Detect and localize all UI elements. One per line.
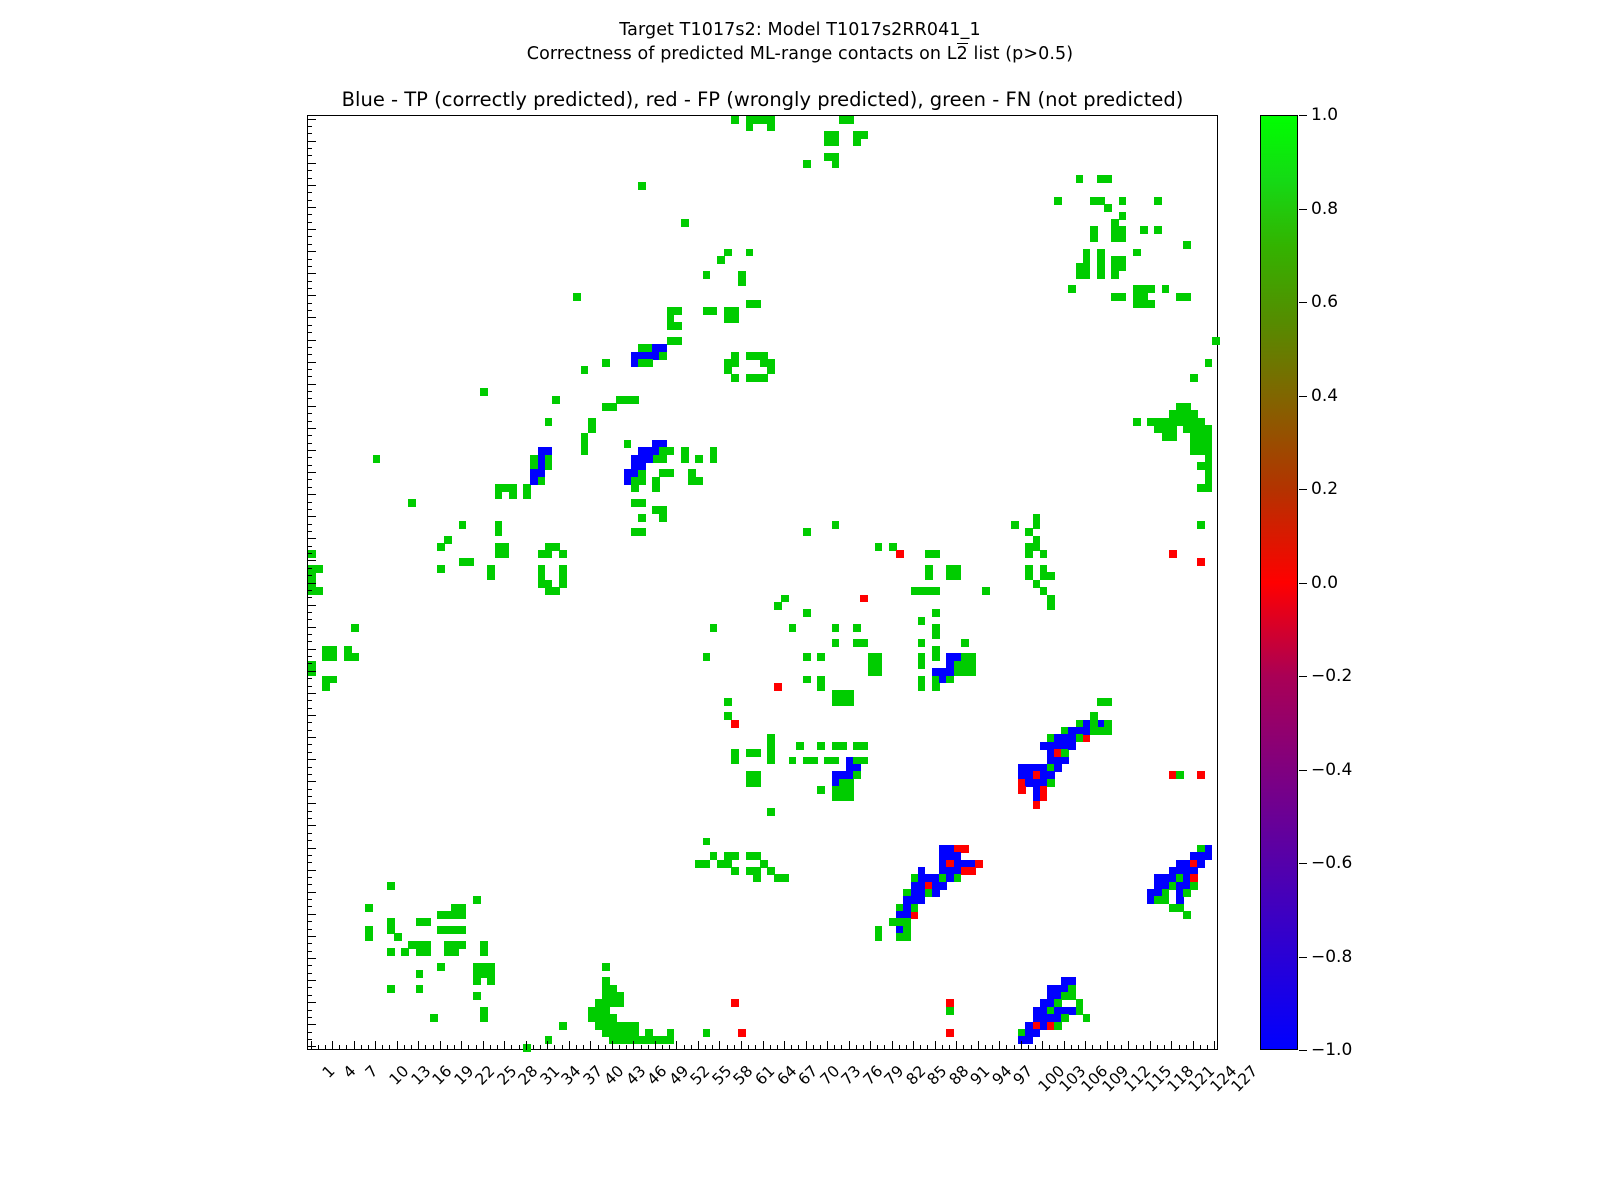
contact-cell bbox=[1040, 572, 1048, 580]
y-tick bbox=[307, 715, 316, 716]
contact-cell bbox=[588, 425, 596, 433]
y-tick bbox=[307, 354, 312, 355]
contact-cell bbox=[946, 1007, 954, 1015]
y-tick bbox=[307, 487, 312, 488]
contact-cell bbox=[559, 580, 567, 588]
contact-cell bbox=[667, 447, 675, 455]
x-tick bbox=[1171, 1041, 1172, 1050]
contact-cell bbox=[466, 558, 474, 566]
contact-cell bbox=[731, 374, 739, 382]
figure-suptitle: Target T1017s2: Model T1017s2RR041_1 Cor… bbox=[0, 18, 1600, 66]
x-tick bbox=[1179, 1045, 1180, 1050]
contact-cell bbox=[1061, 757, 1069, 765]
contact-cell bbox=[982, 587, 990, 595]
y-tick bbox=[307, 965, 312, 966]
y-tick bbox=[307, 494, 316, 495]
contact-cell bbox=[545, 418, 553, 426]
contact-cell bbox=[1197, 558, 1205, 566]
contact-cell bbox=[1197, 521, 1205, 529]
contact-cell bbox=[681, 455, 689, 463]
contact-cell bbox=[365, 933, 373, 941]
y-tick bbox=[307, 649, 316, 650]
y-tick bbox=[307, 317, 316, 318]
x-tick bbox=[511, 1045, 512, 1050]
x-tick bbox=[1214, 1041, 1215, 1050]
y-tick bbox=[307, 1032, 312, 1033]
contact-cell bbox=[416, 941, 424, 949]
x-tick bbox=[834, 1045, 835, 1050]
contact-cell bbox=[703, 1029, 711, 1037]
x-tick bbox=[519, 1045, 520, 1050]
x-tick bbox=[346, 1045, 347, 1050]
contact-cell bbox=[495, 528, 503, 536]
x-tick bbox=[1186, 1045, 1187, 1050]
contact-cell bbox=[659, 514, 667, 522]
x-tick bbox=[1200, 1045, 1201, 1050]
y-tick bbox=[307, 818, 312, 819]
colorbar-tick-label: 0.6 bbox=[1311, 292, 1338, 312]
y-tick bbox=[307, 126, 312, 127]
contact-cell bbox=[480, 388, 488, 396]
contact-cell bbox=[1133, 418, 1141, 426]
contact-cell bbox=[1169, 433, 1177, 441]
contact-cell bbox=[753, 874, 761, 882]
y-tick bbox=[307, 840, 312, 841]
suptitle-line-2-prefix: Correctness of predicted ML-range contac… bbox=[527, 44, 957, 64]
colorbar-tick bbox=[1299, 676, 1307, 677]
contact-cell bbox=[932, 653, 940, 661]
x-tick bbox=[540, 1045, 541, 1050]
contact-cell bbox=[731, 757, 739, 765]
x-tick bbox=[1100, 1045, 1101, 1050]
contact-cell bbox=[437, 565, 445, 573]
l2-exponent: 2 bbox=[957, 44, 968, 64]
y-tick bbox=[307, 597, 312, 598]
y-tick bbox=[307, 259, 312, 260]
contact-cell bbox=[1054, 197, 1062, 205]
contact-cell bbox=[932, 683, 940, 691]
y-tick bbox=[307, 605, 316, 606]
contact-cell bbox=[416, 970, 424, 978]
x-tick bbox=[554, 1045, 555, 1050]
contact-cell bbox=[559, 550, 567, 558]
x-tick bbox=[935, 1041, 936, 1050]
colorbar-tick-label: 0.0 bbox=[1311, 573, 1338, 593]
contact-cell bbox=[846, 779, 854, 787]
x-tick bbox=[1071, 1045, 1072, 1050]
y-tick bbox=[307, 627, 316, 628]
contact-cell bbox=[659, 455, 667, 463]
x-tick bbox=[468, 1045, 469, 1050]
y-tick bbox=[307, 384, 316, 385]
x-tick bbox=[734, 1045, 735, 1050]
contact-cell bbox=[1068, 285, 1076, 293]
x-tick bbox=[798, 1045, 799, 1050]
x-tick-label: 4 bbox=[340, 1062, 360, 1082]
contact-cell bbox=[1197, 860, 1205, 868]
x-tick bbox=[605, 1045, 606, 1050]
x-tick bbox=[354, 1041, 355, 1050]
contact-cell bbox=[652, 484, 660, 492]
contact-cell bbox=[1197, 484, 1205, 492]
contact-cell bbox=[1183, 293, 1191, 301]
y-tick bbox=[307, 1024, 316, 1025]
contact-cell bbox=[459, 926, 467, 934]
contact-cell bbox=[1154, 226, 1162, 234]
y-tick bbox=[307, 759, 316, 760]
contact-cell bbox=[1054, 764, 1062, 772]
contact-cell bbox=[918, 896, 926, 904]
contact-cell bbox=[1205, 359, 1213, 367]
y-tick bbox=[307, 848, 316, 849]
y-tick bbox=[307, 546, 312, 547]
x-tick bbox=[741, 1041, 742, 1050]
contact-cell bbox=[631, 396, 639, 404]
contact-cell bbox=[860, 757, 868, 765]
contact-cell bbox=[1083, 271, 1091, 279]
contact-cell bbox=[918, 617, 926, 625]
x-tick bbox=[612, 1041, 613, 1050]
contact-cell bbox=[545, 550, 553, 558]
y-tick bbox=[307, 951, 312, 952]
contact-cell bbox=[1183, 241, 1191, 249]
x-tick bbox=[1150, 1041, 1151, 1050]
contact-cell bbox=[638, 462, 646, 470]
x-tick bbox=[906, 1045, 907, 1050]
y-tick bbox=[307, 141, 316, 142]
y-tick bbox=[307, 774, 312, 775]
contact-cell bbox=[1054, 1022, 1062, 1030]
contact-cell bbox=[1076, 175, 1084, 183]
contact-cell bbox=[451, 948, 459, 956]
contact-cell bbox=[731, 852, 739, 860]
contact-cell bbox=[602, 359, 610, 367]
y-tick bbox=[307, 1046, 316, 1047]
contact-cell bbox=[573, 293, 581, 301]
y-tick bbox=[307, 568, 312, 569]
contact-cell bbox=[832, 138, 840, 146]
x-tick bbox=[999, 1041, 1000, 1050]
contact-cell bbox=[1047, 779, 1055, 787]
contact-cell bbox=[638, 182, 646, 190]
suptitle-line-1: Target T1017s2: Model T1017s2RR041_1 bbox=[0, 18, 1600, 42]
x-tick bbox=[1078, 1045, 1079, 1050]
contact-cell bbox=[667, 469, 675, 477]
x-tick bbox=[806, 1041, 807, 1050]
contact-cell bbox=[473, 992, 481, 1000]
contact-cell bbox=[365, 904, 373, 912]
y-tick bbox=[307, 457, 312, 458]
y-tick bbox=[307, 730, 312, 731]
contact-cell bbox=[459, 941, 467, 949]
contact-cell bbox=[1033, 1029, 1041, 1037]
y-tick bbox=[307, 214, 312, 215]
y-tick bbox=[307, 170, 312, 171]
contact-cell bbox=[703, 860, 711, 868]
y-tick bbox=[307, 921, 312, 922]
x-tick bbox=[626, 1045, 627, 1050]
contact-cell bbox=[753, 749, 761, 757]
contact-cell bbox=[538, 477, 546, 485]
y-tick bbox=[307, 884, 312, 885]
y-tick bbox=[307, 531, 312, 532]
x-tick bbox=[927, 1045, 928, 1050]
y-tick bbox=[307, 560, 316, 561]
contact-cell bbox=[1047, 602, 1055, 610]
contact-cell bbox=[480, 1014, 488, 1022]
y-tick bbox=[307, 222, 312, 223]
contact-cell bbox=[817, 742, 825, 750]
contact-cell bbox=[918, 683, 926, 691]
y-tick bbox=[307, 472, 316, 473]
contact-cell bbox=[932, 550, 940, 558]
y-tick bbox=[307, 686, 312, 687]
x-tick bbox=[454, 1045, 455, 1050]
x-tick bbox=[562, 1045, 563, 1050]
contact-cell bbox=[839, 742, 847, 750]
contact-cell bbox=[703, 271, 711, 279]
contact-cell bbox=[330, 653, 338, 661]
contact-cell bbox=[416, 985, 424, 993]
contact-cell bbox=[430, 1014, 438, 1022]
x-tick bbox=[418, 1041, 419, 1050]
x-tick bbox=[641, 1045, 642, 1050]
y-tick bbox=[307, 178, 312, 179]
y-tick bbox=[307, 943, 312, 944]
contact-cell bbox=[695, 860, 703, 868]
y-tick bbox=[307, 1017, 312, 1018]
x-tick bbox=[1128, 1041, 1129, 1050]
y-tick bbox=[307, 155, 312, 156]
y-tick bbox=[307, 288, 312, 289]
x-tick bbox=[411, 1045, 412, 1050]
x-tick bbox=[662, 1045, 663, 1050]
x-tick bbox=[1157, 1045, 1158, 1050]
contact-cell bbox=[1111, 271, 1119, 279]
contact-cell bbox=[1140, 226, 1148, 234]
contact-cell bbox=[975, 860, 983, 868]
x-tick bbox=[619, 1045, 620, 1050]
y-tick bbox=[307, 1002, 316, 1003]
x-tick bbox=[318, 1045, 319, 1050]
y-tick bbox=[307, 295, 316, 296]
contact-cell bbox=[423, 948, 431, 956]
contact-cell bbox=[789, 757, 797, 765]
x-tick bbox=[684, 1045, 685, 1050]
contact-cell bbox=[1119, 212, 1127, 220]
contact-cell bbox=[602, 963, 610, 971]
contact-cell bbox=[954, 668, 962, 676]
contact-cell bbox=[911, 911, 919, 919]
y-tick bbox=[307, 325, 312, 326]
contact-cell bbox=[710, 624, 718, 632]
y-tick bbox=[307, 310, 312, 311]
x-tick bbox=[1107, 1041, 1108, 1050]
contact-cell bbox=[1119, 197, 1127, 205]
contact-cell bbox=[559, 1022, 567, 1030]
contact-cell bbox=[803, 676, 811, 684]
contact-cell bbox=[616, 999, 624, 1007]
x-tick bbox=[784, 1041, 785, 1050]
y-tick bbox=[307, 980, 316, 981]
x-tick bbox=[849, 1041, 850, 1050]
contact-cell bbox=[832, 757, 840, 765]
contact-cell bbox=[932, 609, 940, 617]
y-tick bbox=[307, 833, 312, 834]
x-tick bbox=[669, 1045, 670, 1050]
y-tick bbox=[307, 332, 312, 333]
contact-cell bbox=[487, 977, 495, 985]
y-tick bbox=[307, 502, 312, 503]
x-tick bbox=[569, 1041, 570, 1050]
contact-cell bbox=[1205, 477, 1213, 485]
x-tick bbox=[949, 1045, 950, 1050]
contact-cell bbox=[1090, 234, 1098, 242]
y-tick bbox=[307, 987, 312, 988]
y-tick bbox=[307, 281, 312, 282]
contact-cell bbox=[1104, 175, 1112, 183]
contact-cell bbox=[1205, 484, 1213, 492]
contact-cell bbox=[674, 337, 682, 345]
contact-cell bbox=[631, 484, 639, 492]
x-tick bbox=[1064, 1041, 1065, 1050]
contact-cell bbox=[832, 639, 840, 647]
contact-cell bbox=[968, 668, 976, 676]
y-tick bbox=[307, 421, 312, 422]
x-tick bbox=[770, 1045, 771, 1050]
contact-cell bbox=[523, 1044, 531, 1052]
contact-cell bbox=[724, 249, 732, 257]
contact-cell bbox=[1133, 249, 1141, 257]
contact-cell bbox=[810, 757, 818, 765]
y-tick bbox=[307, 789, 312, 790]
y-tick bbox=[307, 862, 312, 863]
contact-cell bbox=[545, 1036, 553, 1044]
contact-cell bbox=[659, 1036, 667, 1044]
contact-cell bbox=[846, 698, 854, 706]
contact-cell bbox=[387, 882, 395, 890]
x-tick bbox=[763, 1041, 764, 1050]
y-tick bbox=[307, 553, 312, 554]
y-tick bbox=[307, 435, 312, 436]
contact-cell bbox=[961, 845, 969, 853]
x-tick bbox=[877, 1045, 878, 1050]
contact-cell bbox=[767, 808, 775, 816]
contact-cell bbox=[552, 587, 560, 595]
contact-cell bbox=[609, 403, 617, 411]
contact-cell bbox=[846, 793, 854, 801]
x-tick bbox=[1042, 1041, 1043, 1050]
contact-cell bbox=[1083, 734, 1091, 742]
y-tick bbox=[307, 376, 312, 377]
contact-cell bbox=[1176, 771, 1184, 779]
contact-cell bbox=[860, 639, 868, 647]
x-tick bbox=[942, 1045, 943, 1050]
contact-cell bbox=[545, 462, 553, 470]
colorbar-tick-label: 0.8 bbox=[1311, 199, 1338, 219]
y-tick bbox=[307, 273, 316, 274]
contact-cell bbox=[846, 116, 854, 124]
y-tick bbox=[307, 708, 312, 709]
contact-cell bbox=[473, 896, 481, 904]
axes-title: Blue - TP (correctly predicted), red - F… bbox=[307, 88, 1218, 111]
x-tick bbox=[820, 1045, 821, 1050]
x-tick bbox=[576, 1045, 577, 1050]
contact-cell bbox=[767, 366, 775, 374]
y-tick bbox=[307, 906, 312, 907]
colorbar-tick bbox=[1299, 1050, 1307, 1051]
y-tick bbox=[307, 244, 312, 245]
y-tick bbox=[307, 524, 312, 525]
contact-cell bbox=[803, 609, 811, 617]
colorbar-tick bbox=[1299, 770, 1307, 771]
contact-cell bbox=[509, 491, 517, 499]
y-tick bbox=[307, 744, 312, 745]
contact-cell bbox=[731, 116, 739, 124]
contact-cell bbox=[1119, 263, 1127, 271]
x-tick bbox=[397, 1041, 398, 1050]
contact-cell bbox=[1047, 572, 1055, 580]
y-tick bbox=[307, 509, 312, 510]
y-tick bbox=[307, 663, 312, 664]
contact-cell bbox=[322, 683, 330, 691]
x-tick bbox=[755, 1045, 756, 1050]
y-tick bbox=[307, 767, 312, 768]
x-tick bbox=[547, 1041, 548, 1050]
contact-cell bbox=[1097, 271, 1105, 279]
x-tick bbox=[1014, 1045, 1015, 1050]
y-tick bbox=[307, 700, 312, 701]
contact-map-plot-area[interactable] bbox=[307, 115, 1218, 1050]
y-tick bbox=[307, 229, 316, 230]
contact-cell bbox=[710, 455, 718, 463]
contact-cell bbox=[961, 639, 969, 647]
contact-cell bbox=[860, 742, 868, 750]
figure-canvas: Target T1017s2: Model T1017s2RR041_1 Cor… bbox=[0, 0, 1600, 1200]
contact-cell bbox=[731, 720, 739, 728]
x-tick bbox=[440, 1041, 441, 1050]
colorbar-tick-label: −0.6 bbox=[1311, 853, 1352, 873]
y-tick bbox=[307, 1010, 312, 1011]
contact-cell bbox=[796, 742, 804, 750]
contact-cell bbox=[767, 757, 775, 765]
y-tick bbox=[307, 825, 316, 826]
x-tick bbox=[971, 1045, 972, 1050]
x-tick bbox=[956, 1041, 957, 1050]
contact-cell bbox=[832, 624, 840, 632]
y-tick bbox=[307, 465, 312, 466]
x-tick bbox=[404, 1045, 405, 1050]
x-tick-label: 7 bbox=[362, 1062, 382, 1082]
contact-cell bbox=[918, 661, 926, 669]
y-tick bbox=[307, 185, 316, 186]
contact-cell bbox=[667, 1036, 675, 1044]
x-tick bbox=[827, 1041, 828, 1050]
x-tick bbox=[504, 1041, 505, 1050]
contact-cell bbox=[817, 683, 825, 691]
contact-cell bbox=[703, 653, 711, 661]
y-tick bbox=[307, 641, 312, 642]
x-tick-label: 97 bbox=[1010, 1062, 1037, 1089]
x-tick bbox=[382, 1045, 383, 1050]
contact-cell bbox=[387, 948, 395, 956]
contact-cell bbox=[781, 595, 789, 603]
y-tick bbox=[307, 722, 312, 723]
x-tick bbox=[676, 1041, 677, 1050]
contact-cell bbox=[1197, 771, 1205, 779]
y-tick bbox=[307, 737, 316, 738]
x-tick bbox=[992, 1045, 993, 1050]
